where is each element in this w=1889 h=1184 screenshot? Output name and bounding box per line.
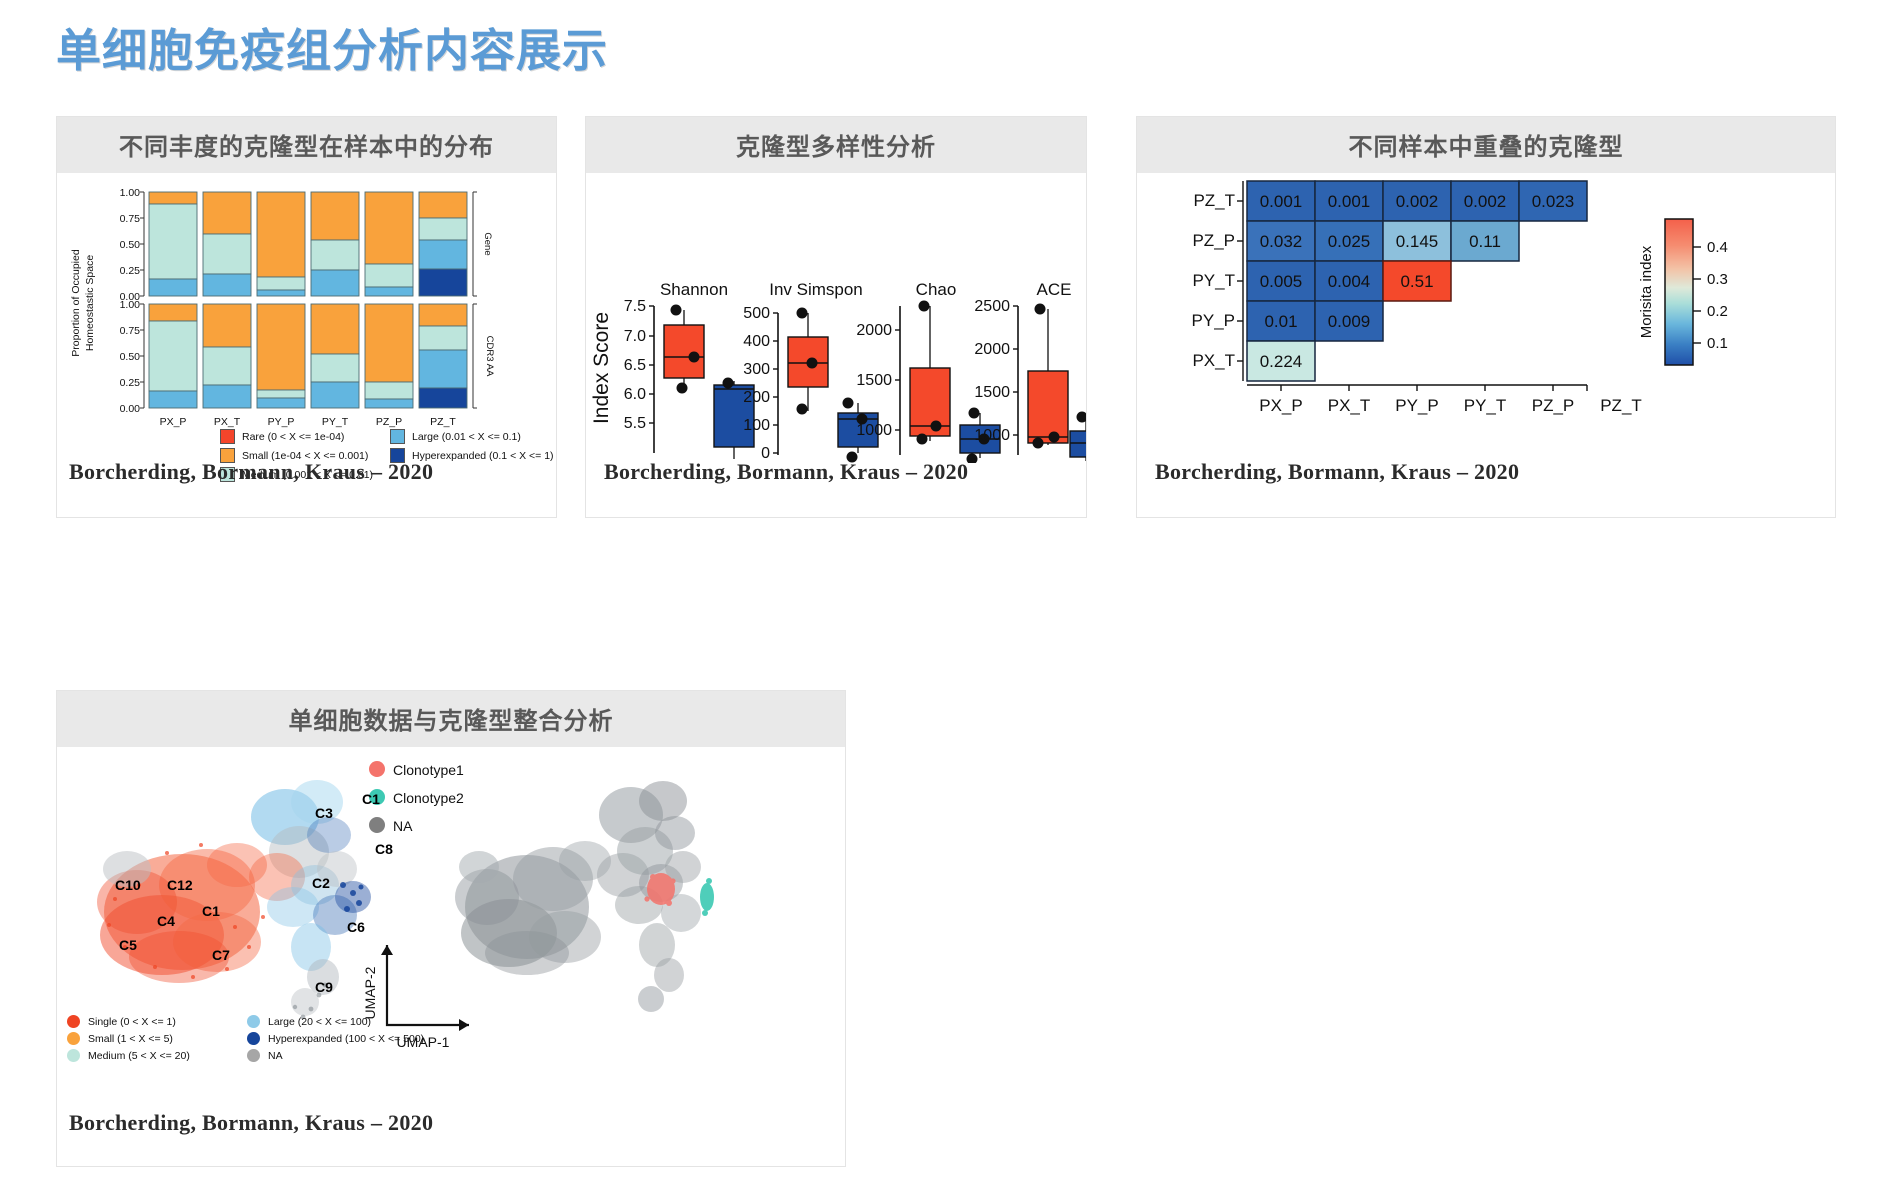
legend-swatch-rare <box>220 429 235 444</box>
svg-text:1500: 1500 <box>974 384 1010 401</box>
svg-text:Gene: Gene <box>482 232 493 255</box>
svg-text:Proportion of Occupied: Proportion of Occupied <box>70 249 82 357</box>
panel-shannon: Shannon 7.5 7.0 6.5 6.0 5.5 <box>624 280 754 463</box>
legend-label-large: Large (0.01 < X <= 0.1) <box>412 431 521 443</box>
chart-clonal-diversity: Index Score Shannon 7.5 7.0 6.5 6.0 5.5 <box>586 173 1086 471</box>
svg-text:PZ_P: PZ_P <box>376 416 402 428</box>
svg-text:PX_T: PX_T <box>1192 351 1235 370</box>
svg-text:7.0: 7.0 <box>624 328 646 345</box>
colorbar: Morisita index 0.40.3 0.20.1 <box>1638 219 1728 365</box>
svg-text:0.51: 0.51 <box>1400 272 1433 291</box>
svg-text:0.3: 0.3 <box>1707 271 1728 288</box>
legend-item: NA <box>247 1049 467 1062</box>
cluster-label-c12: C12 <box>167 877 193 893</box>
svg-text:0.023: 0.023 <box>1532 192 1575 211</box>
citation-clonal-overlap: Borcherding, Bormann, Kraus – 2020 <box>1155 459 1519 485</box>
svg-text:0.002: 0.002 <box>1396 192 1439 211</box>
svg-text:0.032: 0.032 <box>1260 232 1303 251</box>
legend-dot-medium <box>67 1049 80 1062</box>
svg-text:UMAP-2: UMAP-2 <box>362 966 378 1019</box>
umap-axes <box>387 945 469 1025</box>
legend-label-large: Large (20 < X <= 100) <box>268 1016 371 1028</box>
svg-text:0.75: 0.75 <box>120 213 141 225</box>
svg-text:6.5: 6.5 <box>624 357 646 374</box>
svg-text:400: 400 <box>743 333 770 350</box>
svg-text:0.11: 0.11 <box>1469 232 1501 251</box>
cluster-label-c1b: C1 <box>362 791 380 807</box>
cluster-label-c9: C9 <box>315 979 333 995</box>
card-clonal-homeostasis: 不同丰度的克隆型在样本中的分布 Proportion of Occupied H… <box>56 116 557 518</box>
boxplot-svg: Index Score Shannon 7.5 7.0 6.5 6.0 5.5 <box>586 173 1086 463</box>
citation-sc-integration: Borcherding, Bormann, Kraus – 2020 <box>69 1110 433 1136</box>
legend-swatch-large <box>390 429 405 444</box>
card-title-clonal-diversity: 克隆型多样性分析 <box>586 117 1086 173</box>
svg-text:1500: 1500 <box>856 372 892 389</box>
svg-text:PY_P: PY_P <box>1395 396 1438 415</box>
card-clonal-overlap: 不同样本中重叠的克隆型 PZ_T PZ_P PY_T PY_P PX_T <box>1136 116 1836 518</box>
svg-text:PZ_T: PZ_T <box>430 416 456 428</box>
svg-text:Index Score: Index Score <box>590 312 613 424</box>
card-title-sc-integration: 单细胞数据与克隆型整合分析 <box>57 691 845 747</box>
svg-text:PX_T: PX_T <box>214 416 241 428</box>
svg-text:200: 200 <box>743 389 770 406</box>
svg-text:PY_T: PY_T <box>1464 396 1507 415</box>
svg-text:500: 500 <box>743 305 770 322</box>
svg-text:0.145: 0.145 <box>1396 232 1439 251</box>
svg-text:PY_P: PY_P <box>1192 311 1235 330</box>
svg-text:0.25: 0.25 <box>120 265 141 277</box>
svg-text:0.224: 0.224 <box>1260 352 1303 371</box>
cluster-label-c4: C4 <box>157 913 175 929</box>
svg-text:0.2: 0.2 <box>1707 303 1728 320</box>
cluster-label-c8: C8 <box>375 841 393 857</box>
stacked-bar-svg: Proportion of Occupied Homeostastic Spac… <box>57 173 556 431</box>
svg-text:0.005: 0.005 <box>1260 272 1303 291</box>
svg-text:PY_P: PY_P <box>268 416 295 428</box>
svg-text:PY_T: PY_T <box>322 416 349 428</box>
legend-dot-single <box>67 1015 80 1028</box>
svg-text:ACE: ACE <box>1037 280 1072 299</box>
svg-text:0.001: 0.001 <box>1328 192 1371 211</box>
chart-sc-integration: Clonotype1 Clonotype2 NA UMAP-2 UMAP-1 C… <box>57 747 845 1119</box>
umap-right-legend: Clonotype1 Clonotype2 NA <box>369 761 464 834</box>
svg-text:PX_T: PX_T <box>1328 396 1371 415</box>
legend-item: Hyperexpanded (100 < X <= 500) <box>247 1032 467 1045</box>
svg-text:PZ_T: PZ_T <box>1600 396 1642 415</box>
svg-text:Shannon: Shannon <box>660 280 728 299</box>
svg-text:0.002: 0.002 <box>1464 192 1507 211</box>
citation-clonal-diversity: Borcherding, Bormann, Kraus – 2020 <box>604 459 968 485</box>
card-sc-integration: 单细胞数据与克隆型整合分析 <box>56 690 846 1167</box>
svg-text:PY_T: PY_T <box>1192 271 1235 290</box>
chart-clonal-overlap: PZ_T PZ_P PY_T PY_P PX_T <box>1137 173 1835 471</box>
legend-item: Small (1 < X <= 5) <box>67 1032 247 1045</box>
legend-dot-small <box>67 1032 80 1045</box>
cluster-label-c7: C7 <box>212 947 230 963</box>
svg-text:1000: 1000 <box>974 427 1010 444</box>
heatmap-svg: PZ_T PZ_P PY_T PY_P PX_T <box>1137 173 1835 463</box>
cluster-label-c10: C10 <box>115 877 141 893</box>
svg-text:1000: 1000 <box>856 422 892 439</box>
svg-text:CDR3 AA: CDR3 AA <box>484 336 495 377</box>
svg-text:2000: 2000 <box>974 341 1010 358</box>
svg-text:NA: NA <box>393 818 413 834</box>
svg-text:2000: 2000 <box>856 322 892 339</box>
legend-item: Single (0 < X <= 1) <box>67 1015 247 1028</box>
panel-ace: ACE 2500 2000 1500 1000 <box>974 280 1086 463</box>
svg-text:6.0: 6.0 <box>624 386 646 403</box>
legend-dot-hyperexpanded <box>247 1032 260 1045</box>
svg-text:1.00: 1.00 <box>120 187 141 199</box>
legend-item: Large (20 < X <= 100) <box>247 1015 467 1028</box>
chart-clonal-homeostasis: Proportion of Occupied Homeostastic Spac… <box>57 173 556 471</box>
svg-text:Chao: Chao <box>916 280 957 299</box>
umap-right <box>455 781 714 1012</box>
svg-text:Clonotype1: Clonotype1 <box>393 762 464 778</box>
svg-text:0.004: 0.004 <box>1328 272 1371 291</box>
card-title-clonal-overlap: 不同样本中重叠的克隆型 <box>1137 117 1835 173</box>
svg-text:5.5: 5.5 <box>624 415 646 432</box>
legend-item: Rare (0 < X <= 1e-04) <box>220 429 390 444</box>
svg-text:PZ_P: PZ_P <box>1532 396 1575 415</box>
cluster-label-c5: C5 <box>119 937 137 953</box>
svg-text:0.01: 0.01 <box>1264 312 1297 331</box>
umap-left-legend: Single (0 < X <= 1) Small (1 < X <= 5) M… <box>67 1015 467 1066</box>
svg-text:300: 300 <box>743 361 770 378</box>
svg-text:Clonotype2: Clonotype2 <box>393 790 464 806</box>
card-clonal-diversity: 克隆型多样性分析 Index Score Shannon 7.5 7.0 6.5 <box>585 116 1087 518</box>
svg-text:7.5: 7.5 <box>624 298 646 315</box>
svg-text:PZ_P: PZ_P <box>1192 231 1235 250</box>
page-title: 单细胞免疫组分析内容展示 <box>56 14 608 79</box>
svg-text:Morisita index: Morisita index <box>1638 245 1655 338</box>
cluster-label-c1: C1 <box>202 903 220 919</box>
svg-text:0.25: 0.25 <box>120 377 141 389</box>
svg-text:0.4: 0.4 <box>1707 239 1728 256</box>
svg-text:PZ_T: PZ_T <box>1193 191 1235 210</box>
svg-text:0.001: 0.001 <box>1260 192 1303 211</box>
legend-dot-na <box>247 1049 260 1062</box>
svg-text:0.00: 0.00 <box>120 403 141 415</box>
card-title-clonal-homeostasis: 不同丰度的克隆型在样本中的分布 <box>57 117 556 173</box>
legend-dot-large <box>247 1015 260 1028</box>
svg-text:0.50: 0.50 <box>120 239 141 251</box>
legend-item: Medium (5 < X <= 20) <box>67 1049 247 1062</box>
svg-text:100: 100 <box>743 417 770 434</box>
cluster-label-c3: C3 <box>315 805 333 821</box>
legend-label-small: Small (1 < X <= 5) <box>88 1033 173 1045</box>
legend-label-medium: Medium (5 < X <= 20) <box>88 1050 190 1062</box>
citation-clonal-homeostasis: Borcherding, Bormann, Kraus – 2020 <box>69 459 433 485</box>
legend-item: Large (0.01 < X <= 0.1) <box>390 429 540 444</box>
svg-text:0.75: 0.75 <box>120 325 141 337</box>
svg-text:PX_P: PX_P <box>1259 396 1302 415</box>
legend-label-single: Single (0 < X <= 1) <box>88 1016 176 1028</box>
svg-text:0.009: 0.009 <box>1328 312 1371 331</box>
svg-text:0.025: 0.025 <box>1328 232 1371 251</box>
cluster-label-c2: C2 <box>312 875 330 891</box>
svg-text:Inv Simspon: Inv Simspon <box>769 280 863 299</box>
legend-label-hyperexpanded: Hyperexpanded (100 < X <= 500) <box>268 1033 424 1045</box>
legend-label-rare: Rare (0 < X <= 1e-04) <box>242 431 344 443</box>
svg-text:Homeostastic Space: Homeostastic Space <box>84 255 96 351</box>
svg-text:1.00: 1.00 <box>120 299 141 311</box>
svg-text:0.1: 0.1 <box>1707 335 1728 352</box>
legend-label-na: NA <box>268 1050 283 1062</box>
svg-text:2500: 2500 <box>974 298 1010 315</box>
svg-text:T: T <box>974 462 986 463</box>
svg-text:P: P <box>1042 462 1055 463</box>
cluster-label-c6: C6 <box>347 919 365 935</box>
svg-text:0.50: 0.50 <box>120 351 141 363</box>
svg-text:PX_P: PX_P <box>160 416 187 428</box>
